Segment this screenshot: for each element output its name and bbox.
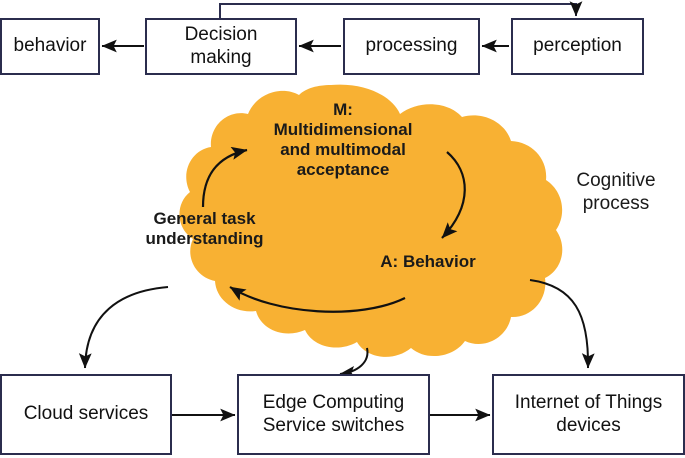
node-behavior-label: behavior — [10, 35, 91, 57]
node-perception-label: perception — [529, 35, 626, 57]
diagram-canvas: behavior Decision making processing perc… — [0, 0, 685, 458]
node-iot-devices[interactable]: Internet of Things devices — [492, 374, 685, 455]
node-perception[interactable]: perception — [511, 18, 644, 75]
annotation-cognitive-process: Cognitive process — [551, 170, 681, 216]
node-behavior[interactable]: behavior — [0, 18, 100, 75]
node-processing[interactable]: processing — [343, 18, 480, 75]
node-cloud-services[interactable]: Cloud services — [0, 374, 172, 455]
cloud-label-behavior: A: Behavior — [358, 252, 498, 272]
cloud-label-general-task: General task understanding — [117, 209, 292, 249]
diagram-node-layer: behavior Decision making processing perc… — [0, 0, 685, 458]
cloud-label-multidimensional: M: Multidimensional and multimodal accep… — [243, 100, 443, 180]
node-decision-making[interactable]: Decision making — [145, 18, 297, 75]
node-cloud-services-label: Cloud services — [20, 403, 153, 425]
node-processing-label: processing — [362, 35, 462, 57]
node-decision-making-label: Decision making — [181, 24, 262, 69]
node-edge-computing[interactable]: Edge Computing Service switches — [237, 374, 430, 455]
node-edge-computing-label: Edge Computing Service switches — [259, 392, 409, 437]
node-iot-devices-label: Internet of Things devices — [511, 392, 667, 437]
